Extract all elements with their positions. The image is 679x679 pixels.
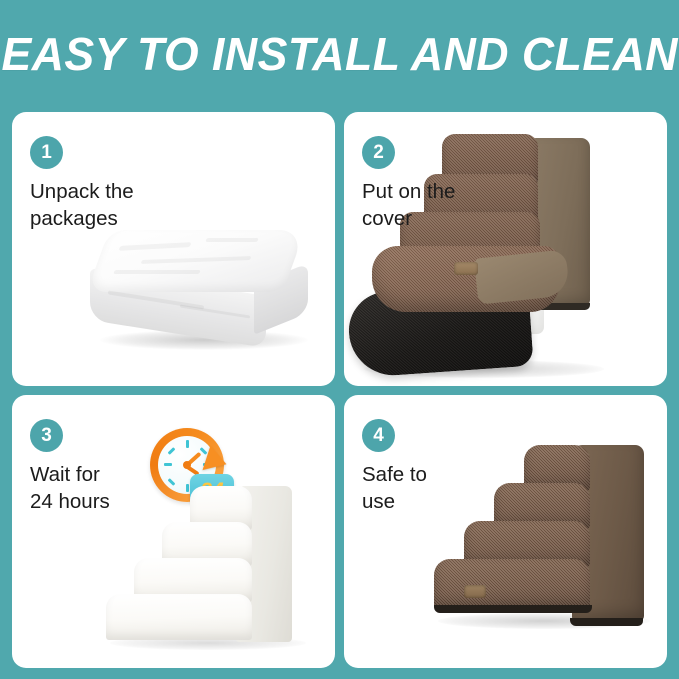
page-title: EASY TO INSTALL AND CLEAN: [1, 27, 678, 81]
step-card-2: 2 Put on the cover: [344, 112, 667, 386]
step-card-4: 4 Safe to use: [344, 395, 667, 669]
package-crease: [205, 238, 259, 242]
package-crease: [113, 270, 201, 274]
step-caption: Put on the cover: [362, 178, 455, 232]
brand-tag: [464, 585, 486, 598]
brand-tag: [454, 262, 478, 275]
foam-step: [106, 594, 252, 640]
step-number-badge: 3: [30, 419, 63, 452]
stair-step: [434, 559, 590, 609]
step-caption: Safe to use: [362, 461, 427, 515]
step-caption: Wait for 24 hours: [30, 461, 110, 515]
infographic-poster: EASY TO INSTALL AND CLEAN 1: [0, 0, 679, 679]
step-number-badge: 2: [362, 136, 395, 169]
step-number-badge: 1: [30, 136, 63, 169]
white-foam-stairs-icon: [104, 478, 314, 650]
compressed-package-icon: [84, 230, 314, 348]
clock-center-pin: [183, 461, 191, 469]
step-caption: Unpack the packages: [30, 178, 134, 232]
step-card-1: 1 Unpack the packages: [12, 112, 335, 386]
title-bar: EASY TO INSTALL AND CLEAN: [0, 0, 679, 108]
clock-tick: [186, 440, 189, 448]
brown-pet-stairs-icon: [430, 439, 660, 635]
clock-tick: [164, 463, 172, 466]
stairs-base-trim: [434, 605, 592, 613]
step-number-badge: 4: [362, 419, 395, 452]
